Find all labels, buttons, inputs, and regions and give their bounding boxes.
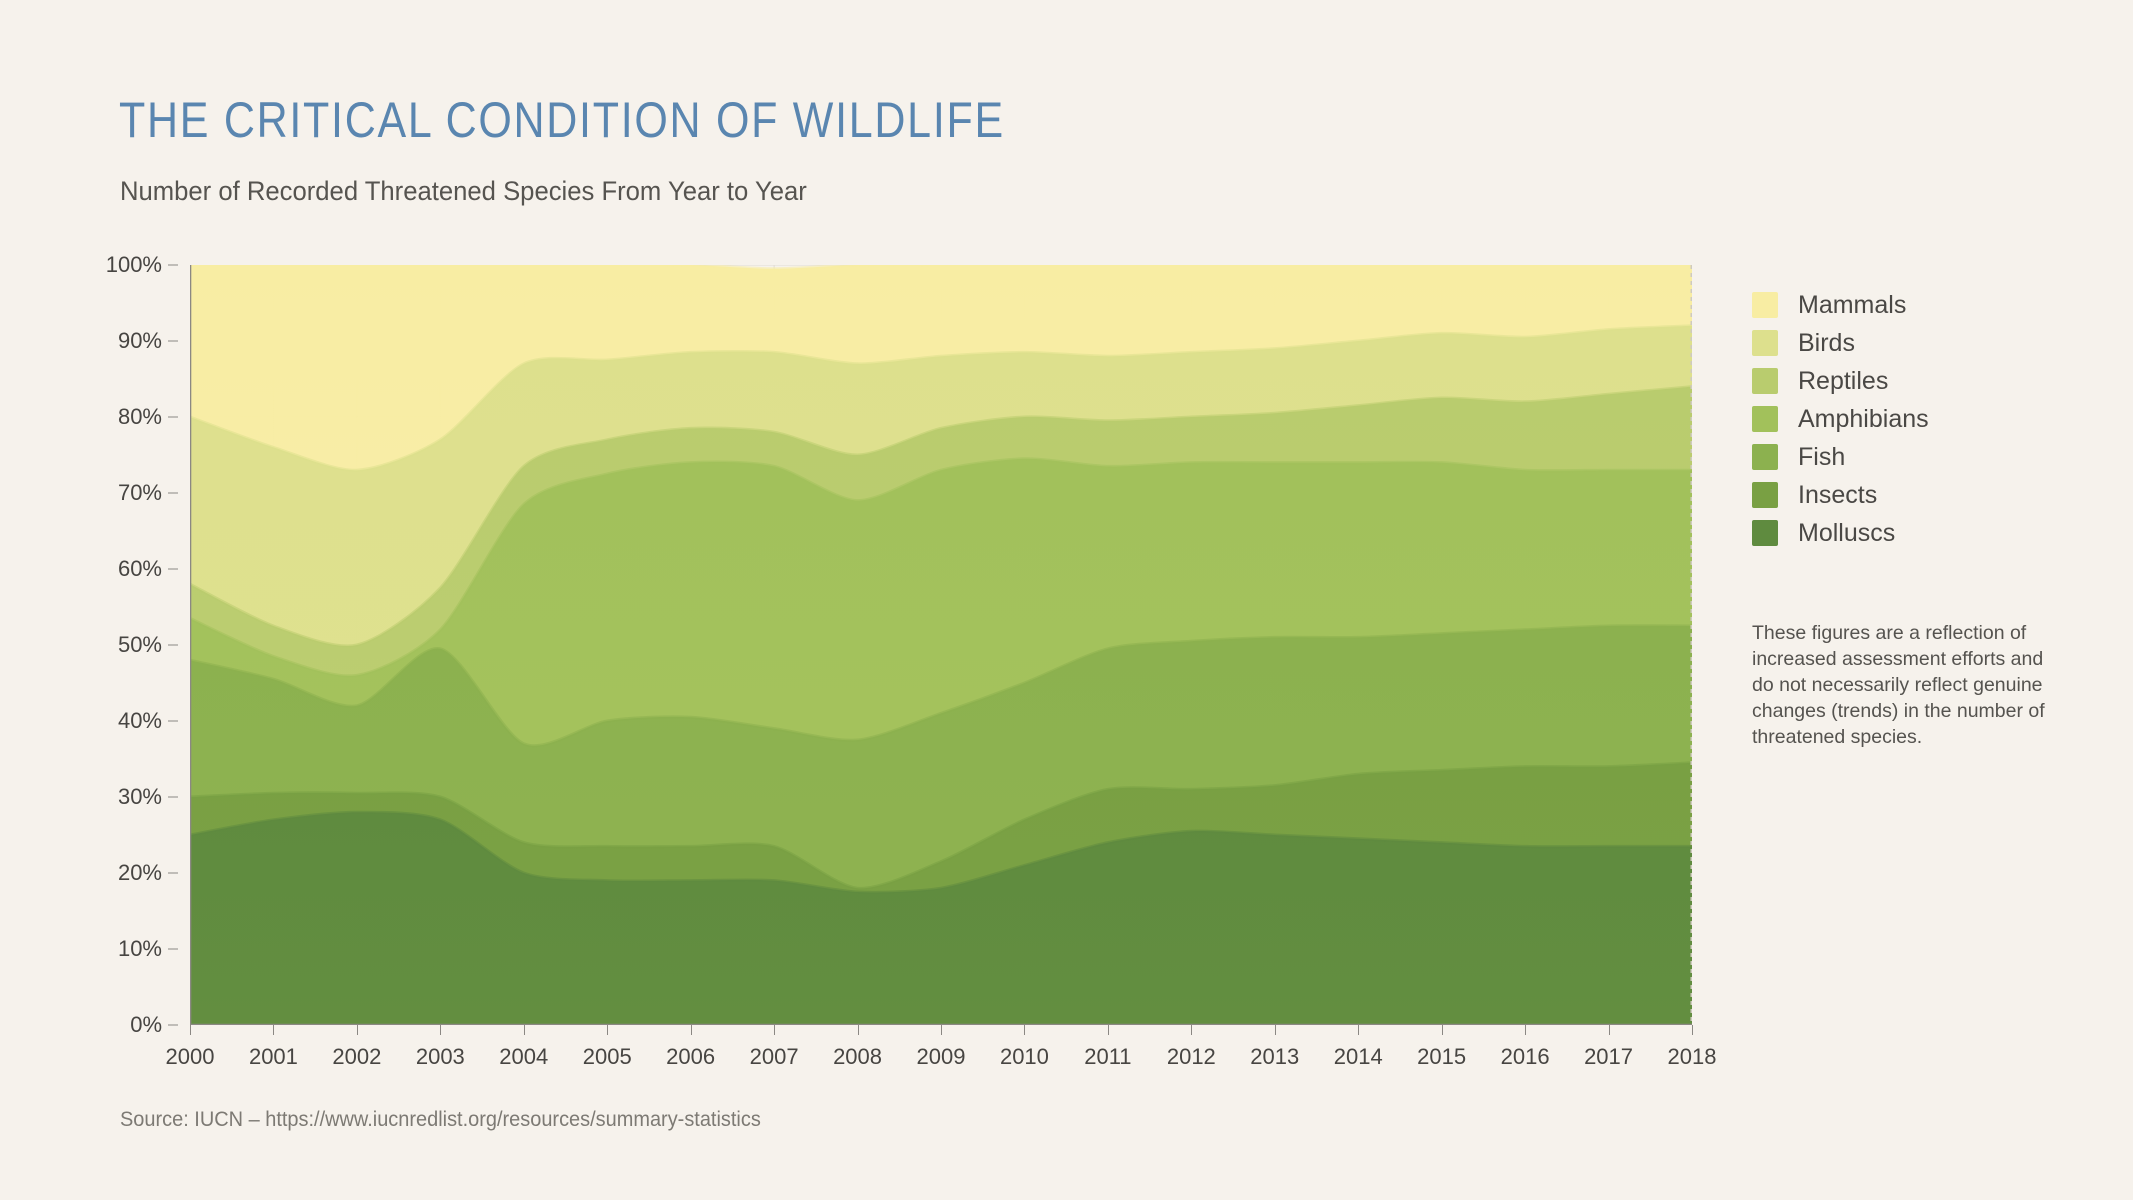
y-axis-tick-label: 20% (118, 860, 162, 886)
legend-swatch-icon (1752, 482, 1778, 508)
y-axis-tick-label: 100% (106, 252, 162, 278)
x-axis-tick-label: 2012 (1167, 1044, 1216, 1070)
x-axis-tick-mark (440, 1025, 441, 1035)
source-caption: Source: IUCN – https://www.iucnredlist.o… (120, 1108, 761, 1132)
legend-item-label: Amphibians (1798, 407, 1929, 432)
x-axis-tick-label: 2008 (833, 1044, 882, 1070)
x-axis-tick-label: 2001 (249, 1044, 298, 1070)
y-axis-tick-label: 50% (118, 632, 162, 658)
legend-item-reptiles[interactable]: Reptiles (1752, 362, 2082, 400)
legend-swatch-icon (1752, 444, 1778, 470)
x-axis-tick-mark (858, 1025, 859, 1035)
x-axis-tick-label: 2009 (917, 1044, 966, 1070)
y-axis-tick-mark (168, 1025, 178, 1026)
legend-item-fish[interactable]: Fish (1752, 438, 2082, 476)
x-axis-tick-mark (607, 1025, 608, 1035)
x-axis-tick-label: 2018 (1668, 1044, 1717, 1070)
y-axis-tick-mark (168, 417, 178, 418)
x-axis-tick-mark (273, 1025, 274, 1035)
legend-swatch-icon (1752, 406, 1778, 432)
y-axis-tick-label: 70% (118, 480, 162, 506)
legend-swatch-icon (1752, 520, 1778, 546)
x-axis-tick-label: 2014 (1334, 1044, 1383, 1070)
x-axis-tick-mark (190, 1025, 191, 1035)
x-axis-tick-mark (1358, 1025, 1359, 1035)
legend-item-label: Fish (1798, 445, 1845, 470)
y-axis-tick-label: 10% (118, 936, 162, 962)
x-axis-tick-label: 2004 (499, 1044, 548, 1070)
y-axis-tick-mark (168, 569, 178, 570)
y-axis-tick-mark (168, 265, 178, 266)
legend-item-birds[interactable]: Birds (1752, 324, 2082, 362)
y-axis-tick-mark (168, 949, 178, 950)
x-axis-tick-mark (941, 1025, 942, 1035)
legend-item-label: Reptiles (1798, 369, 1888, 394)
y-axis-tick-label: 30% (118, 784, 162, 810)
x-axis-tick-label: 2005 (583, 1044, 632, 1070)
x-axis-tick-label: 2000 (166, 1044, 215, 1070)
x-axis-tick-label: 2002 (332, 1044, 381, 1070)
x-axis-tick-mark (1275, 1025, 1276, 1035)
legend-swatch-icon (1752, 292, 1778, 318)
x-axis-tick-mark (774, 1025, 775, 1035)
legend-item-insects[interactable]: Insects (1752, 476, 2082, 514)
legend-item-molluscs[interactable]: Molluscs (1752, 514, 2082, 552)
stacked-area-chart (190, 265, 1692, 1025)
legend-item-amphibians[interactable]: Amphibians (1752, 400, 2082, 438)
x-axis-tick-label: 2015 (1417, 1044, 1466, 1070)
page-title: The Critical Condition of Wildlife (119, 95, 1005, 145)
y-axis-tick-label: 60% (118, 556, 162, 582)
legend-swatch-icon (1752, 368, 1778, 394)
x-axis-tick-label: 2017 (1584, 1044, 1633, 1070)
x-axis-tick-mark (1525, 1025, 1526, 1035)
x-axis-tick-label: 2006 (666, 1044, 715, 1070)
legend-swatch-icon (1752, 330, 1778, 356)
y-axis-tick-mark (168, 341, 178, 342)
y-axis-tick-mark (168, 873, 178, 874)
legend-item-label: Insects (1798, 483, 1877, 508)
x-axis-tick-mark (691, 1025, 692, 1035)
x-axis-tick-mark (1024, 1025, 1025, 1035)
x-axis-tick-label: 2010 (1000, 1044, 1049, 1070)
y-axis-tick-mark (168, 493, 178, 494)
x-axis-tick-mark (524, 1025, 525, 1035)
x-axis-tick-mark (1609, 1025, 1610, 1035)
x-axis-tick-label: 2016 (1501, 1044, 1550, 1070)
y-axis-tick-mark (168, 645, 178, 646)
x-axis-tick-label: 2007 (750, 1044, 799, 1070)
legend-item-label: Birds (1798, 331, 1855, 356)
legend-item-label: Mammals (1798, 293, 1906, 318)
x-axis-tick-label: 2013 (1250, 1044, 1299, 1070)
legend-item-mammals[interactable]: Mammals (1752, 286, 2082, 324)
x-axis-tick-mark (1692, 1025, 1693, 1035)
y-axis: 0%10%20%30%40%50%60%70%80%90%100% (100, 265, 178, 1025)
x-axis: 2000200120022003200420052006200720082009… (190, 1025, 1692, 1085)
x-axis-tick-label: 2003 (416, 1044, 465, 1070)
x-axis-tick-label: 2011 (1084, 1044, 1131, 1070)
y-axis-tick-mark (168, 721, 178, 722)
y-axis-tick-label: 40% (118, 708, 162, 734)
chart-plot-area (190, 265, 1692, 1025)
x-axis-tick-mark (1191, 1025, 1192, 1035)
x-axis-tick-mark (1442, 1025, 1443, 1035)
chart-legend: MammalsBirdsReptilesAmphibiansFishInsect… (1752, 286, 2082, 552)
chart-note: These figures are a reflection of increa… (1752, 620, 2052, 750)
y-axis-tick-label: 90% (118, 328, 162, 354)
x-axis-tick-mark (1108, 1025, 1109, 1035)
x-axis-tick-mark (357, 1025, 358, 1035)
y-axis-tick-label: 0% (130, 1012, 162, 1038)
y-axis-tick-label: 80% (118, 404, 162, 430)
y-axis-tick-mark (168, 797, 178, 798)
legend-item-label: Molluscs (1798, 521, 1895, 546)
infographic-page: The Critical Condition of Wildlife Numbe… (0, 0, 2133, 1200)
page-subtitle: Number of Recorded Threatened Species Fr… (120, 178, 807, 205)
